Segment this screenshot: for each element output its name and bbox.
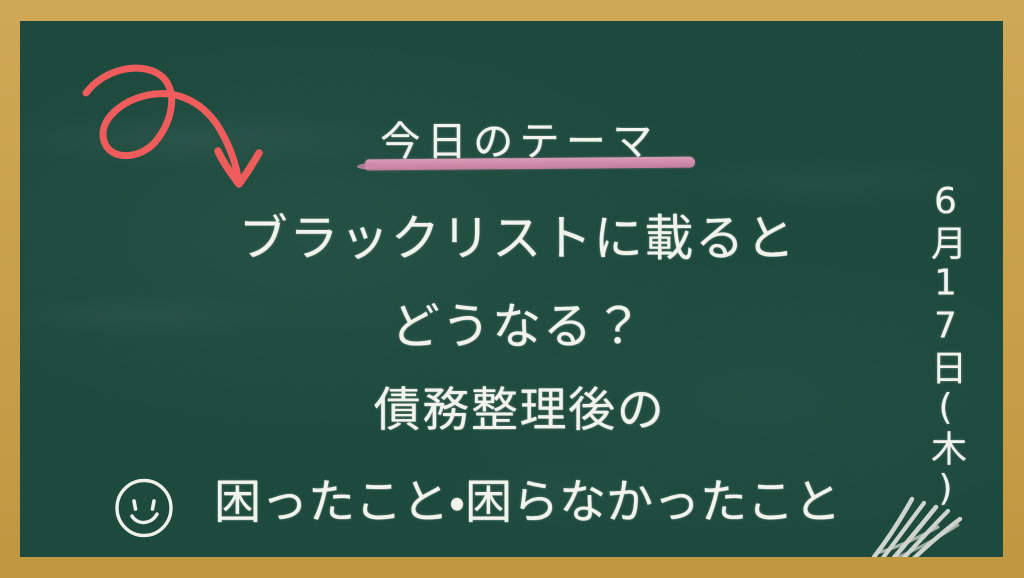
chalkboard-slide: 今日のテーマ ブラックリストに載ると どうなる？ 債務整理後の 困ったこと・困ら… [0,0,1024,578]
chalkboard-surface: 今日のテーマ ブラックリストに載ると どうなる？ 債務整理後の 困ったこと・困ら… [20,21,1003,557]
smiley-face-icon [112,476,176,540]
headline-line-2: どうなる？ [26,287,1003,358]
date-label: 6月17日(木) [915,181,967,511]
headline-line-4: 困ったこと・困らなかったこと [36,463,1003,532]
title-underline [365,157,695,171]
headline-line-1: ブラックリストに載ると [26,199,1003,270]
headline-line-3: 債務整理後の [28,371,1003,440]
chalk-scribble-doodle [868,487,978,557]
